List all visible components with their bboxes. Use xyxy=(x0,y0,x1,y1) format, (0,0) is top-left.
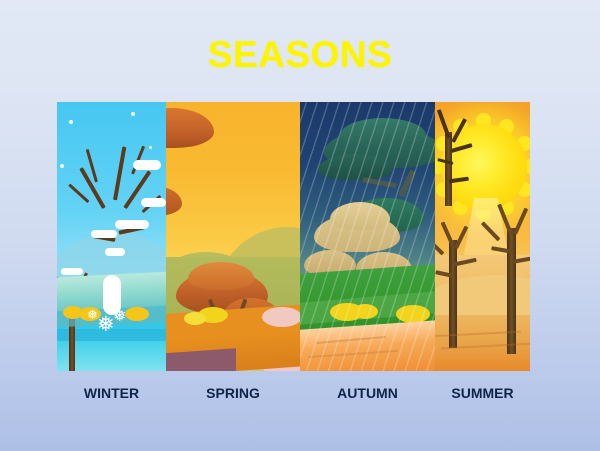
season-image-strip: ❅ ❅ ❅ xyxy=(57,102,530,371)
summer-tree-trunk xyxy=(445,132,452,206)
snow-cap xyxy=(141,198,166,207)
season-label-summer: SUMMER xyxy=(435,383,530,403)
snow-dot xyxy=(60,164,64,168)
season-label-autumn: AUTUMN xyxy=(300,383,435,403)
snow-dot xyxy=(69,120,73,124)
snow-dot xyxy=(149,146,152,149)
snowflake-icon: ❅ xyxy=(87,306,98,323)
rain-overlay xyxy=(300,102,435,371)
season-panel-autumn[interactable] xyxy=(300,102,435,371)
snowflake-icon: ❅ xyxy=(97,316,115,333)
snow-cap xyxy=(91,230,117,238)
snow-dot xyxy=(131,112,135,116)
snow-cap xyxy=(115,220,149,229)
spring-ground-shadow xyxy=(166,348,236,371)
season-labels-row: WINTER SPRING AUTUMN SUMMER xyxy=(57,383,530,403)
season-label-spring: SPRING xyxy=(166,383,300,403)
page-title: SEASONS xyxy=(0,34,600,76)
season-panel-summer[interactable] xyxy=(435,102,530,371)
winter-flower-bush xyxy=(125,307,149,321)
spring-tree-canopy xyxy=(188,262,254,290)
season-panel-winter[interactable]: ❅ ❅ ❅ xyxy=(57,102,166,371)
snowflake-icon: ❅ xyxy=(113,308,126,325)
summer-tree-trunk xyxy=(507,228,516,354)
snow-cap xyxy=(105,248,125,256)
summer-tree-trunk xyxy=(449,240,457,348)
season-panel-spring[interactable] xyxy=(166,102,300,371)
snow-cap xyxy=(61,268,83,275)
snow-cap xyxy=(133,160,161,170)
season-label-winter: WINTER xyxy=(57,383,166,403)
spring-blossom-bush xyxy=(262,307,300,327)
seasons-slide: SEASONS xyxy=(0,0,600,451)
spring-flower-bush xyxy=(184,312,206,325)
